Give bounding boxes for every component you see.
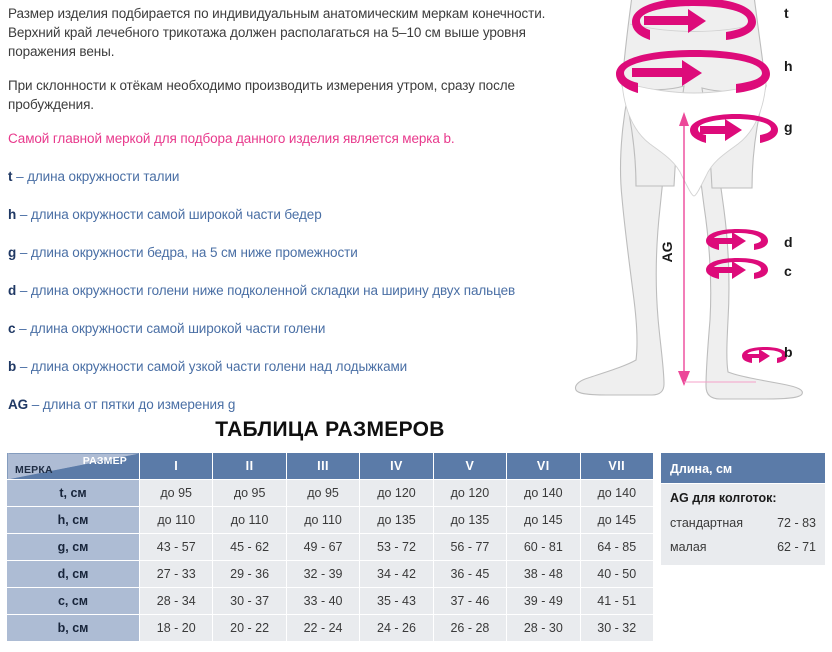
cell-h-1: до 110 (140, 507, 213, 534)
legend-item-g: g – длина окружности бедра, на 5 см ниже… (8, 243, 568, 262)
row-label-t: t, см (7, 480, 140, 507)
row-label-b: b, см (7, 615, 140, 642)
intro-paragraph-2: При склонности к отёкам необходимо произ… (8, 76, 568, 114)
length-row-small: малая 62 - 71 (670, 540, 816, 554)
intro-section: Размер изделия подбирается по индивидуал… (0, 0, 832, 410)
length-panel-header: Длина, см (660, 452, 826, 484)
cell-d-5: 36 - 45 (433, 561, 506, 588)
cell-h-4: до 135 (360, 507, 433, 534)
table-row: h, см до 110 до 110 до 110 до 135 до 135… (7, 507, 654, 534)
label-c: c (784, 263, 792, 279)
legend-text-b: – длина окружности самой узкой части гол… (20, 359, 407, 374)
legend-key-c: c (8, 321, 15, 336)
legend-key-d: d (8, 283, 16, 298)
cell-c-2: 30 - 37 (213, 588, 286, 615)
cell-t-4: до 120 (360, 480, 433, 507)
measure-arrow-b (742, 347, 787, 363)
cell-t-6: до 140 (507, 480, 580, 507)
legend-text-h: – длина окружности самой широкой части б… (20, 207, 322, 222)
cell-b-4: 24 - 26 (360, 615, 433, 642)
cell-g-2: 45 - 62 (213, 534, 286, 561)
cell-c-7: 41 - 51 (580, 588, 653, 615)
legend-item-c: c – длина окружности самой широкой части… (8, 319, 568, 338)
row-label-d: d, см (7, 561, 140, 588)
cell-g-3: 49 - 67 (286, 534, 359, 561)
corner-cell: МЕРКА РАЗМЕР (7, 453, 140, 480)
label-d: d (784, 234, 793, 250)
legend-item-b: b – длина окружности самой узкой части г… (8, 357, 568, 376)
cell-h-6: до 145 (507, 507, 580, 534)
cell-d-6: 38 - 48 (507, 561, 580, 588)
label-g: g (784, 119, 793, 135)
legend-key-g: g (8, 245, 16, 260)
cell-b-3: 22 - 24 (286, 615, 359, 642)
cell-c-1: 28 - 34 (140, 588, 213, 615)
body-measurement-diagram: AG t h g d c b (560, 0, 832, 410)
column-header-2: II (213, 453, 286, 480)
label-h: h (784, 58, 793, 74)
table-row: c, см 28 - 34 30 - 37 33 - 40 35 - 43 37… (7, 588, 654, 615)
cell-g-4: 53 - 72 (360, 534, 433, 561)
legend-item-d: d – длина окружности голени ниже подколе… (8, 281, 568, 300)
cell-c-5: 37 - 46 (433, 588, 506, 615)
label-b: b (784, 344, 793, 360)
cell-h-7: до 145 (580, 507, 653, 534)
row-label-h: h, см (7, 507, 140, 534)
length-panel-subtitle: AG для колготок: (670, 491, 816, 505)
legend-item-ag: AG – длина от пятки до измерения g (8, 395, 568, 414)
intro-paragraph-1: Размер изделия подбирается по индивидуал… (8, 4, 568, 61)
cell-g-7: 64 - 85 (580, 534, 653, 561)
cell-g-5: 56 - 77 (433, 534, 506, 561)
corner-label-measure: МЕРКА (15, 464, 53, 476)
cell-g-6: 60 - 81 (507, 534, 580, 561)
page-title: ТАБЛИЦА РАЗМЕРОВ (0, 418, 660, 442)
cell-t-7: до 140 (580, 480, 653, 507)
row-label-g: g, см (7, 534, 140, 561)
legend-key-t: t (8, 169, 12, 184)
table-row: g, см 43 - 57 45 - 62 49 - 67 53 - 72 56… (7, 534, 654, 561)
length-row-standard-name: стандартная (670, 516, 743, 530)
cell-h-3: до 110 (286, 507, 359, 534)
legend-text-c: – длина окружности самой широкой части г… (19, 321, 325, 336)
legend-text-g: – длина окружности бедра, на 5 см ниже п… (20, 245, 358, 260)
label-t: t (784, 5, 789, 21)
size-table: МЕРКА РАЗМЕР I II III IV V VI VII t, см … (6, 452, 654, 642)
column-header-4: IV (360, 453, 433, 480)
row-label-c: c, см (7, 588, 140, 615)
cell-b-7: 30 - 32 (580, 615, 653, 642)
cell-d-4: 34 - 42 (360, 561, 433, 588)
measure-arrow-d (706, 229, 768, 250)
table-header-row: МЕРКА РАЗМЕР I II III IV V VI VII (7, 453, 654, 480)
length-panel-body: AG для колготок: стандартная 72 - 83 мал… (660, 484, 826, 566)
table-row: t, см до 95 до 95 до 95 до 120 до 120 до… (7, 480, 654, 507)
cell-d-7: 40 - 50 (580, 561, 653, 588)
cell-d-3: 32 - 39 (286, 561, 359, 588)
legend-text-d: – длина окружности голени ниже подколенн… (20, 283, 515, 298)
length-row-small-name: малая (670, 540, 707, 554)
legend-item-h: h – длина окружности самой широкой части… (8, 205, 568, 224)
column-header-1: I (140, 453, 213, 480)
cell-t-3: до 95 (286, 480, 359, 507)
length-panel: Длина, см AG для колготок: стандартная 7… (660, 452, 826, 566)
length-row-small-value: 62 - 71 (777, 540, 816, 554)
cell-d-2: 29 - 36 (213, 561, 286, 588)
legend-key-b: b (8, 359, 16, 374)
legend-text-t: – длина окружности талии (16, 169, 179, 184)
cell-b-2: 20 - 22 (213, 615, 286, 642)
legend-key-h: h (8, 207, 16, 222)
column-header-5: V (433, 453, 506, 480)
cell-c-6: 39 - 49 (507, 588, 580, 615)
measure-arrow-c (706, 258, 768, 279)
cell-t-2: до 95 (213, 480, 286, 507)
body-silhouette (576, 0, 803, 399)
cell-g-1: 43 - 57 (140, 534, 213, 561)
corner-label-size: РАЗМЕР (83, 455, 127, 467)
length-row-standard-value: 72 - 83 (777, 516, 816, 530)
cell-b-1: 18 - 20 (140, 615, 213, 642)
cell-h-5: до 135 (433, 507, 506, 534)
legend-key-ag: AG (8, 397, 28, 412)
column-header-6: VI (507, 453, 580, 480)
ag-label: AG (659, 241, 675, 262)
length-row-standard: стандартная 72 - 83 (670, 516, 816, 530)
cell-b-6: 28 - 30 (507, 615, 580, 642)
cell-t-1: до 95 (140, 480, 213, 507)
legend-text-ag: – длина от пятки до измерения g (32, 397, 236, 412)
cell-d-1: 27 - 33 (140, 561, 213, 588)
cell-t-5: до 120 (433, 480, 506, 507)
cell-c-4: 35 - 43 (360, 588, 433, 615)
table-row: d, см 27 - 33 29 - 36 32 - 39 34 - 42 36… (7, 561, 654, 588)
legend-item-t: t – длина окружности талии (8, 167, 568, 186)
highlight-note: Самой главной меркой для подбора данного… (8, 129, 568, 148)
column-header-7: VII (580, 453, 653, 480)
cell-c-3: 33 - 40 (286, 588, 359, 615)
text-column: Размер изделия подбирается по индивидуал… (8, 4, 568, 433)
table-row: b, см 18 - 20 20 - 22 22 - 24 24 - 26 26… (7, 615, 654, 642)
cell-h-2: до 110 (213, 507, 286, 534)
column-header-3: III (286, 453, 359, 480)
cell-b-5: 26 - 28 (433, 615, 506, 642)
